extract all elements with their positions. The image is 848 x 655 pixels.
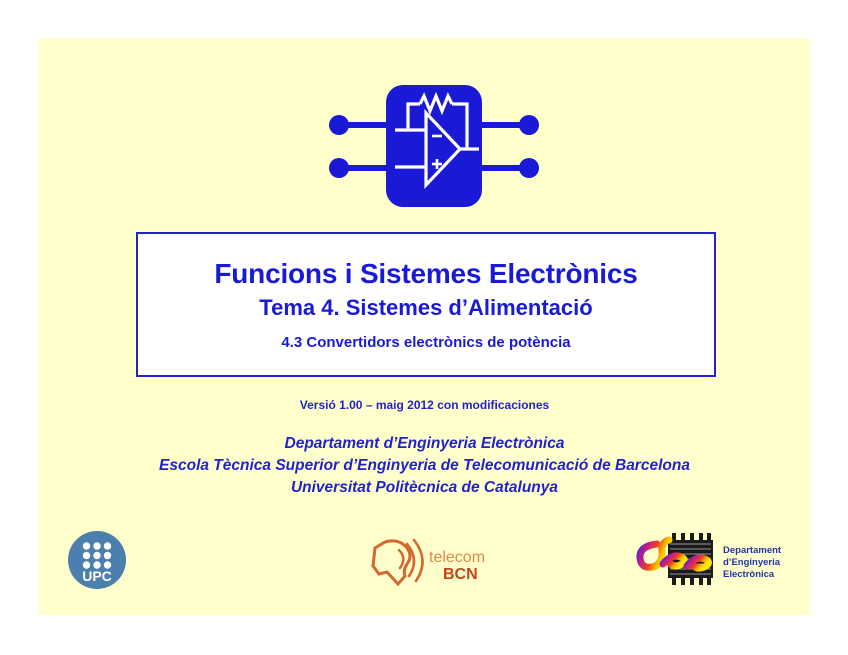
- dee-text-line1: Departament: [723, 545, 782, 556]
- bcn-wordmark: BCN: [443, 566, 478, 583]
- slide-canvas: Funcions i Sistemes Electrònics Tema 4. …: [39, 38, 810, 615]
- version-text: Versió 1.00 – maig 2012 con modificacion…: [39, 398, 810, 412]
- affiliation-university: Universitat Politècnica de Catalunya: [39, 477, 810, 499]
- affiliation-block: Departament d’Enginyeria Electrònica Esc…: [39, 433, 810, 499]
- terminal-dot-top-left: [329, 115, 349, 135]
- terminal-dot-top-right: [519, 115, 539, 135]
- upc-dot-grid: [83, 542, 111, 568]
- telecom-wordmark: telecom: [429, 549, 485, 566]
- op-amp-circuit-logo: [289, 80, 579, 225]
- upc-logo: UPC: [67, 530, 127, 590]
- dee-text-line3: Electrònica: [723, 569, 775, 580]
- affiliation-department: Departament d’Enginyeria Electrònica: [39, 433, 810, 455]
- telecom-bcn-logo: telecom BCN: [365, 534, 490, 588]
- terminal-dot-bottom-right: [519, 158, 539, 178]
- dee-department-logo: Departament d’Enginyeria Electrònica: [635, 528, 793, 594]
- page-subtitle: Tema 4. Sistemes d’Alimentació: [259, 295, 592, 320]
- upc-wordmark: UPC: [82, 568, 112, 584]
- affiliation-school: Escola Tècnica Superior d’Enginyeria de …: [39, 455, 810, 477]
- title-box: Funcions i Sistemes Electrònics Tema 4. …: [136, 232, 716, 377]
- dee-text-line2: d’Enginyeria: [723, 557, 781, 568]
- page-section-title: 4.3 Convertidors electrònics de potència: [281, 334, 570, 351]
- terminal-dot-bottom-left: [329, 158, 349, 178]
- telecom-ear-mark: [373, 540, 423, 584]
- page-title: Funcions i Sistemes Electrònics: [214, 258, 637, 289]
